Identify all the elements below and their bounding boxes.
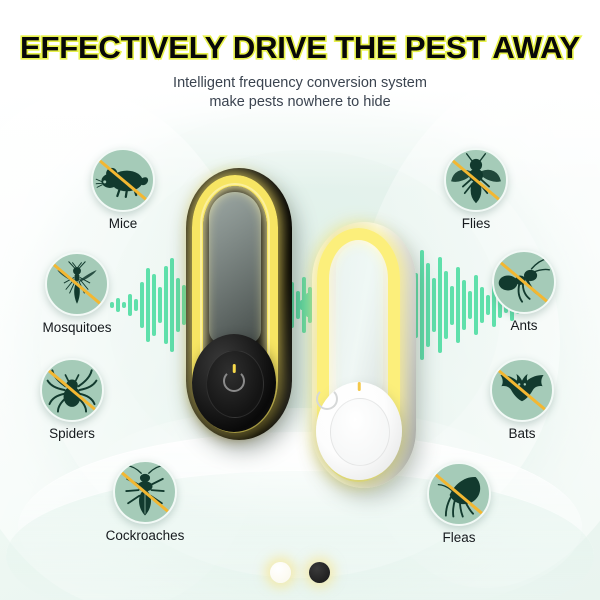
pest-badge-flies[interactable]: Flies [444, 148, 508, 212]
soundwave-bar [176, 278, 180, 332]
pest-label-mice: Mice [109, 216, 138, 231]
soundwave-bar [486, 295, 490, 316]
soundwave-bar [468, 291, 472, 320]
soundwave-bar [456, 267, 460, 342]
device-power-button[interactable] [192, 334, 276, 432]
soundwave-bar [462, 280, 466, 329]
soundwave-bar [140, 282, 144, 328]
color-swatch-black[interactable] [309, 562, 330, 583]
soundwave-bar [432, 278, 436, 333]
power-button-inner [330, 398, 390, 466]
soundwave-bar [306, 293, 310, 316]
pest-badge-spiders[interactable]: Spiders [40, 358, 104, 422]
spider-icon [40, 358, 104, 422]
soundwave-bar [444, 271, 448, 339]
pest-badge-fleas[interactable]: Fleas [427, 462, 491, 526]
soundwave-bar [110, 302, 114, 307]
soundwave-bar [480, 287, 484, 323]
pest-label-cockroaches: Cockroaches [106, 528, 185, 543]
color-option-group [0, 562, 600, 583]
soundwave-bar [134, 299, 138, 311]
mosquito-icon [45, 252, 109, 316]
soundwave-bar [170, 258, 174, 353]
pest-label-bats: Bats [508, 426, 535, 441]
pest-label-mosquitoes: Mosquitoes [42, 320, 111, 335]
soundwave-bar [450, 286, 454, 325]
mouse-icon [91, 148, 155, 212]
bat-icon [490, 358, 554, 422]
color-swatch-cream[interactable] [270, 562, 291, 583]
subtitle-line-1: Intelligent frequency conversion system [0, 74, 600, 93]
soundwave-bar [116, 298, 120, 312]
soundwave-bar [122, 302, 126, 309]
pest-label-flies: Flies [462, 216, 491, 231]
soundwave-bar [164, 266, 168, 345]
white-repeller-device[interactable] [312, 222, 416, 488]
pest-label-spiders: Spiders [49, 426, 95, 441]
product-infographic: EFFECTIVELY DRIVE THE PEST AWAY Intellig… [0, 0, 600, 600]
pest-label-fleas: Fleas [442, 530, 475, 545]
pest-badge-bats[interactable]: Bats [490, 358, 554, 422]
power-icon [223, 364, 245, 394]
cockroach-icon [113, 460, 177, 524]
soundwave-bar [128, 294, 132, 316]
soundwave-bar [438, 257, 442, 353]
soundwave-bar [146, 268, 150, 341]
page-title: EFFECTIVELY DRIVE THE PEST AWAY [0, 30, 600, 66]
soundwave-bar [420, 250, 424, 359]
pest-badge-cockroaches[interactable]: Cockroaches [113, 460, 177, 524]
soundwave-bar [152, 274, 156, 336]
soundwave-bar [426, 263, 430, 346]
fly-icon [444, 148, 508, 212]
pest-badge-mice[interactable]: Mice [91, 148, 155, 212]
pest-badge-ants[interactable]: Ants [492, 250, 556, 314]
soundwave-bar [474, 275, 478, 335]
soundwave-bar [158, 287, 162, 322]
subtitle-line-2: make pests nowhere to hide [0, 93, 600, 112]
pest-label-ants: Ants [510, 318, 537, 333]
ant-icon [492, 250, 556, 314]
black-repeller-device[interactable] [186, 168, 292, 440]
device-power-button[interactable] [316, 382, 402, 480]
page-subtitle: Intelligent frequency conversion system … [0, 74, 600, 112]
pest-badge-mosquitoes[interactable]: Mosquitoes [45, 252, 109, 316]
flea-icon [427, 462, 491, 526]
soundwave-bar [300, 300, 304, 310]
